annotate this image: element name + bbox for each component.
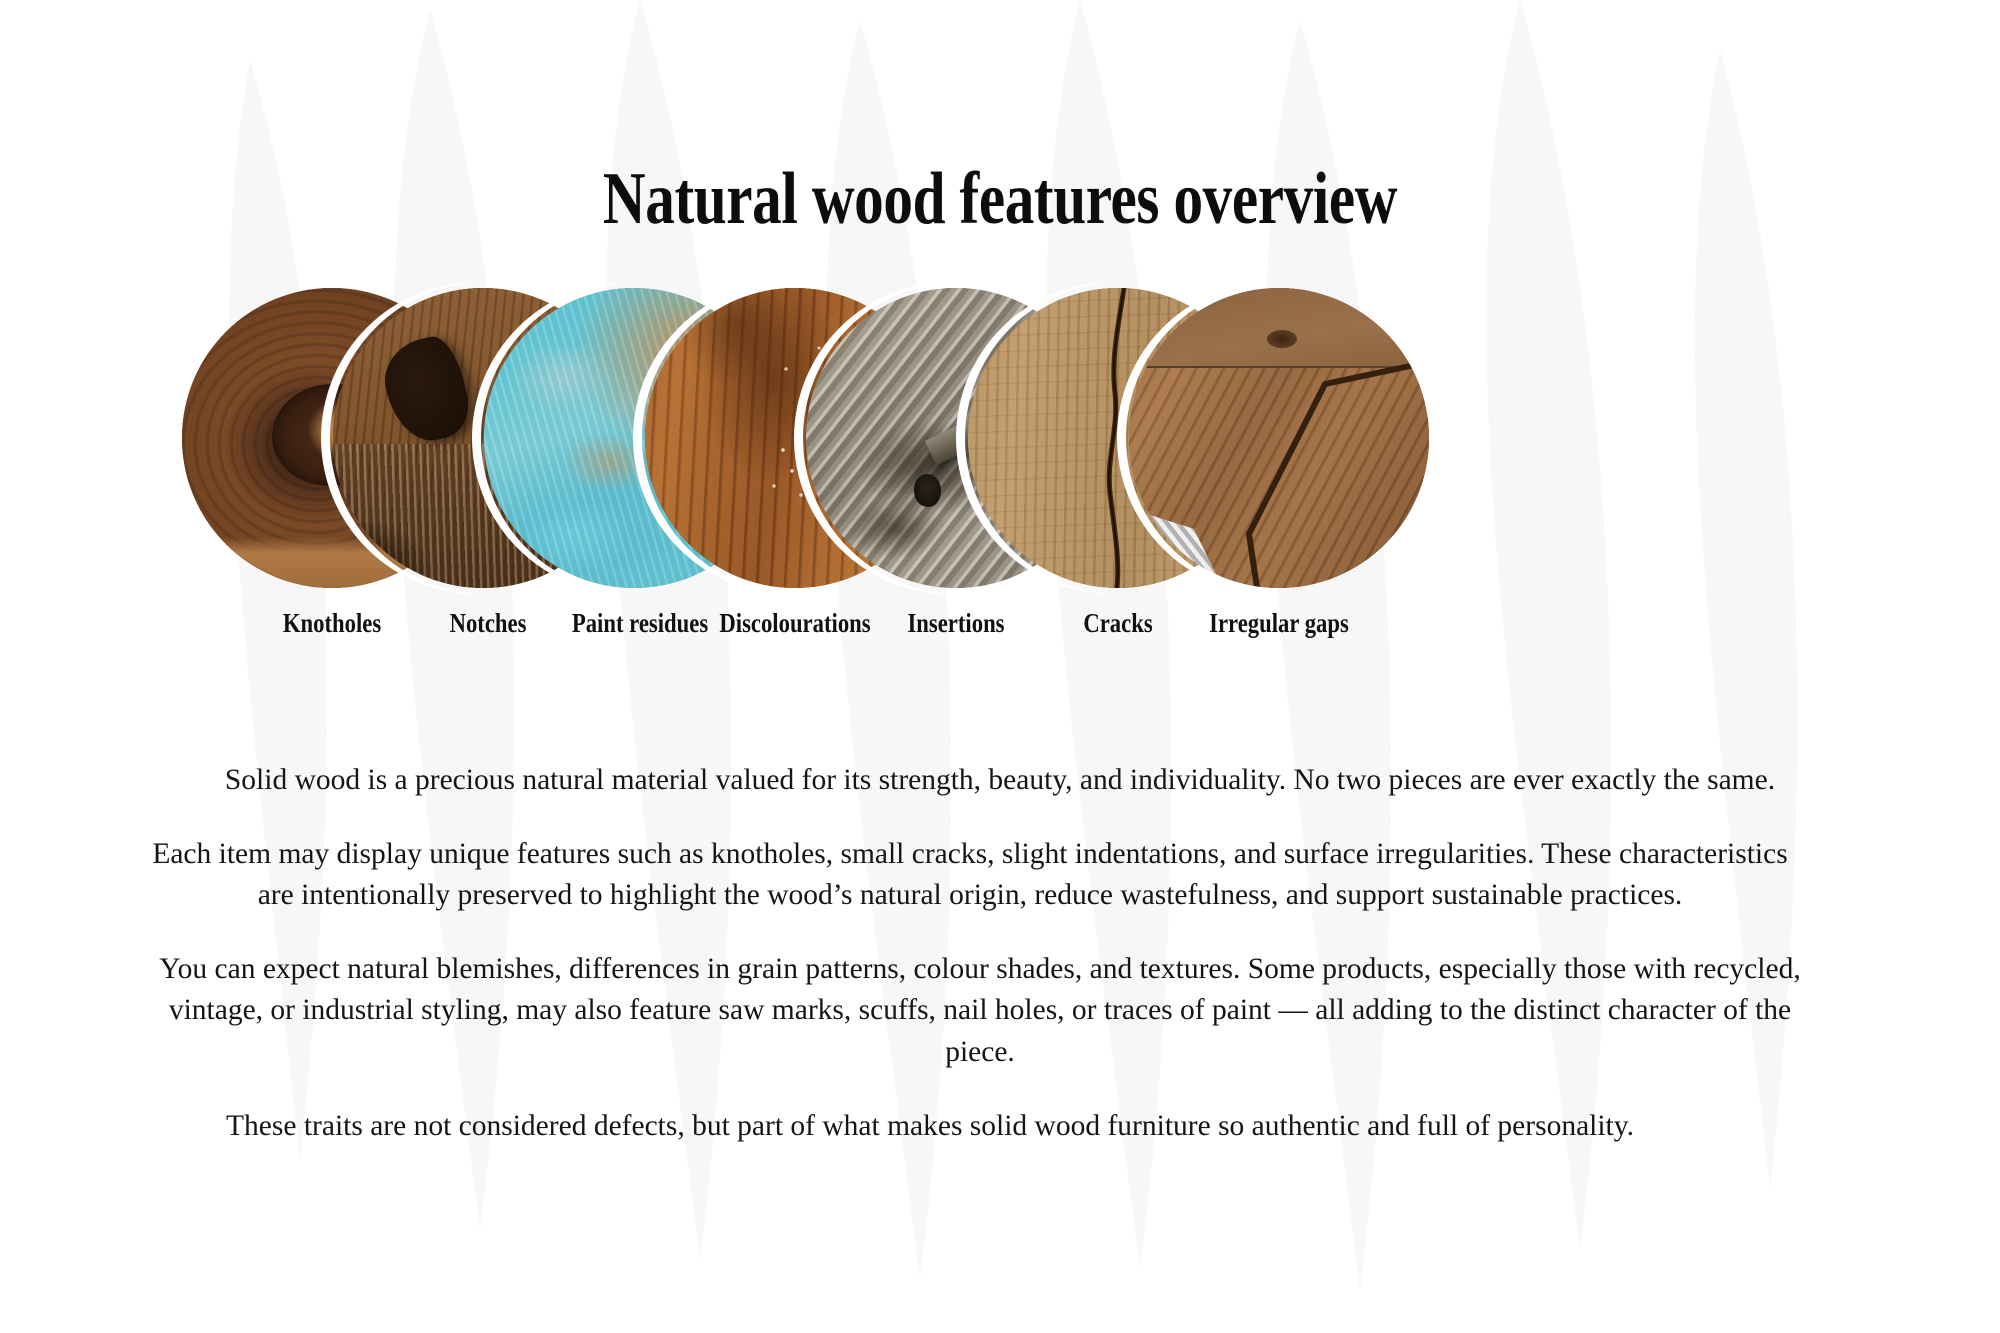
body-copy: Solid wood is a precious natural materia… xyxy=(150,760,1850,1147)
feature-labels: Knotholes Notches Paint residues Discolo… xyxy=(0,608,2000,648)
feature-circle-strip xyxy=(0,288,2000,598)
body-paragraph-3: You can expect natural blemishes, differ… xyxy=(150,949,1810,1074)
page-root: Natural wood features overview xyxy=(0,0,2000,1333)
body-paragraph-4: These traits are not considered defects,… xyxy=(150,1106,1710,1148)
body-paragraph-1: Solid wood is a precious natural materia… xyxy=(150,760,1850,802)
page-title: Natural wood features overview xyxy=(200,158,1800,241)
feature-image-irregular-gaps xyxy=(1129,288,1429,588)
feature-item-irregular-gaps[interactable] xyxy=(1129,288,1429,588)
feature-label-irregular-gaps: Irregular gaps xyxy=(1153,608,1405,639)
body-paragraph-2: Each item may display unique features su… xyxy=(150,834,1790,917)
gap-line-icon xyxy=(1129,288,1429,588)
